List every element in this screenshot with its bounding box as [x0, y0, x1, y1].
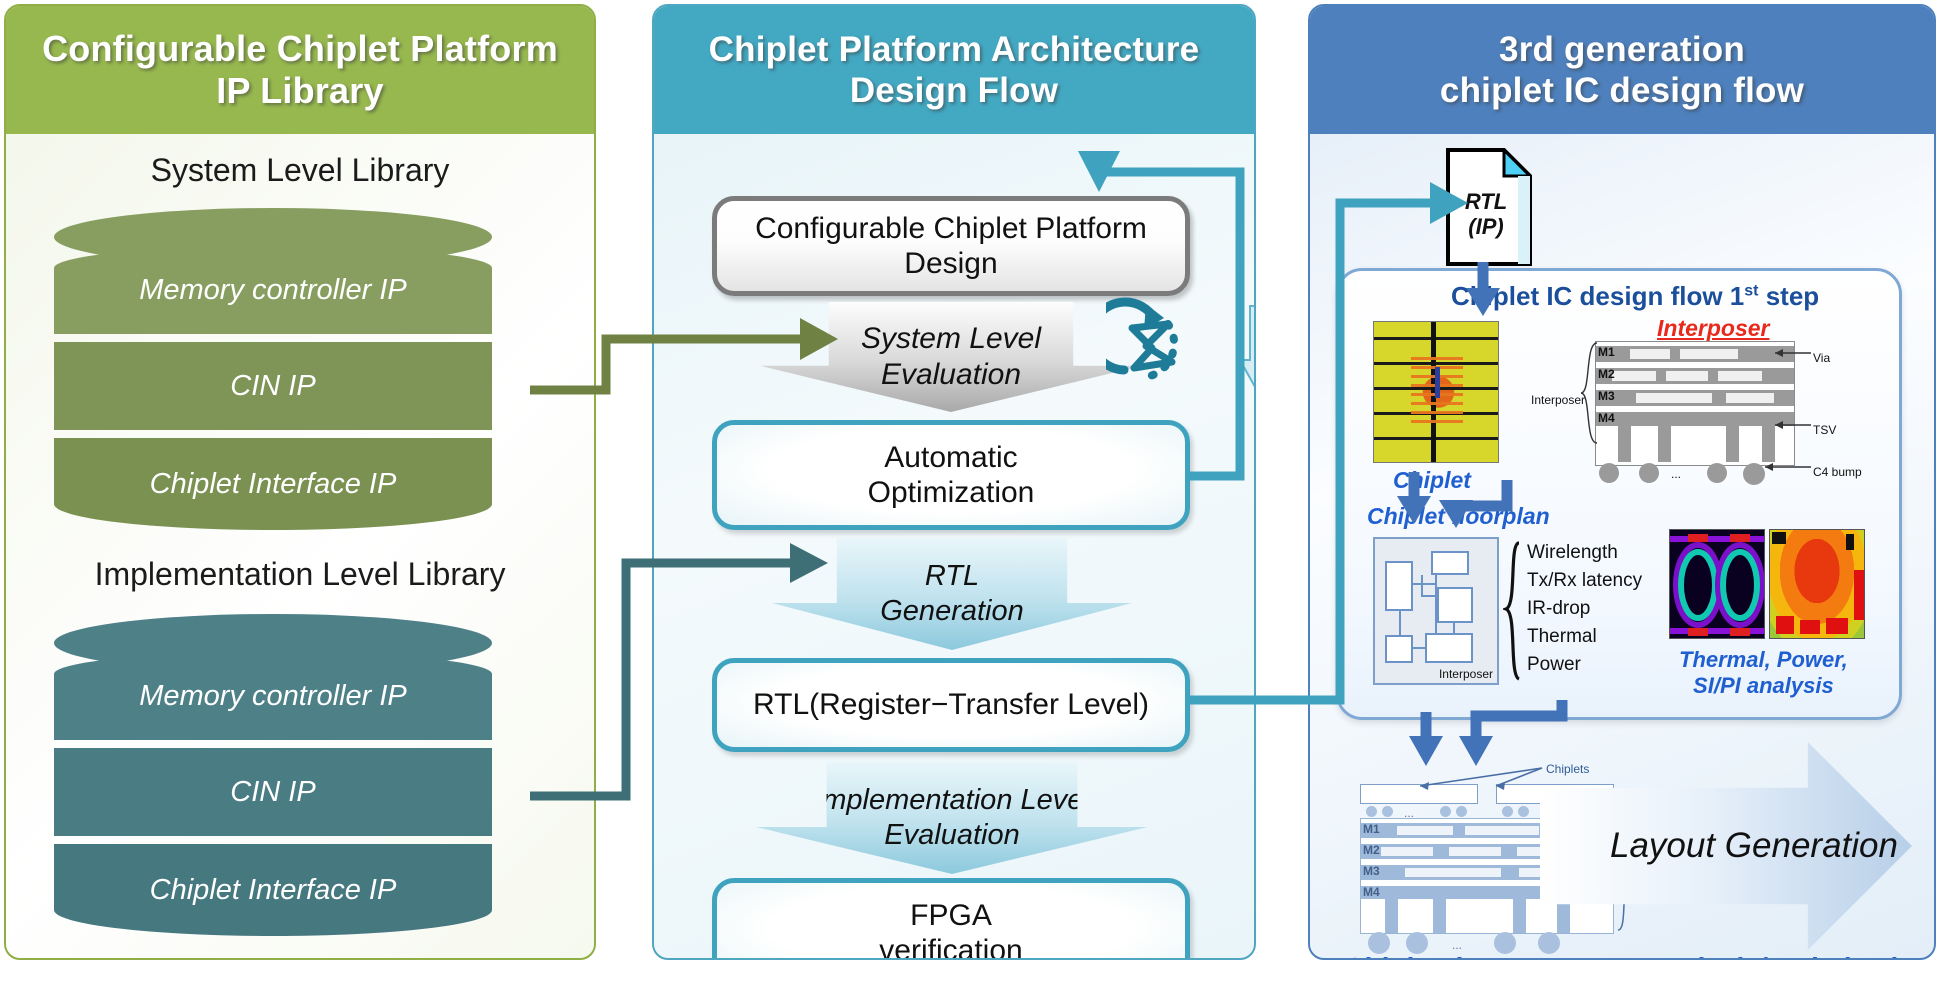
system-level-library-title: System Level Library [6, 152, 594, 189]
metric-item: IR-drop [1527, 595, 1642, 623]
step-label-line2: Generation [880, 594, 1024, 629]
step-label-line2: Optimization [868, 475, 1035, 510]
step-rtl-generation: RTL Generation [772, 538, 1132, 650]
cylinder-band-chiplet-interface-ip: Chiplet Interface IP [54, 438, 492, 530]
panel-chiplet-ic-design-flow: 3rd generation chiplet IC design flow RT… [1308, 4, 1936, 960]
step-automatic-optimization[interactable]: Automatic Optimization [712, 420, 1190, 530]
panel-right-title-line2: chiplet IC design flow [1440, 70, 1804, 111]
panel-mid-title-line2: Design Flow [850, 70, 1058, 111]
analysis-caption: Thermal, Power, SI/PI analysis [1679, 647, 1848, 700]
step-configurable-chiplet-platform-design[interactable]: Configurable Chiplet Platform Design [712, 196, 1190, 296]
down-arrow-icon [1238, 304, 1256, 400]
cylinder-band-cin-ip: CIN IP [54, 748, 492, 836]
chiplet-caption: Chiplet [1393, 467, 1471, 494]
metric-item: Tx/Rx latency [1527, 567, 1642, 595]
step-label-line1: RTL [880, 559, 1024, 594]
rtl-ip-document-icon: RTL (IP) [1446, 148, 1532, 266]
cylinder-band-memory-ip: Memory controller IP [54, 246, 492, 334]
step1-title-post: step [1758, 281, 1819, 311]
step-label-line1: FPGA [879, 898, 1022, 933]
step-system-level-evaluation: System Level Evaluation [760, 302, 1142, 412]
panel-right-title-line1: 3rd generation [1499, 29, 1745, 70]
metric-item: Wirelength [1527, 539, 1642, 567]
step-label-line2: Evaluation [814, 818, 1090, 853]
band-label: Chiplet Interface IP [150, 468, 397, 501]
rtl-doc-line1: RTL [1446, 190, 1526, 215]
band-label: Memory controller IP [139, 680, 407, 713]
step1-title-pre: Chiplet IC design flow 1 [1451, 281, 1744, 311]
floorplan-interposer-label: Interposer [1439, 667, 1493, 681]
implementation-level-library-cylinder: Memory controller IP CIN IP Chiplet Inte… [54, 614, 492, 906]
chiplets-label: Chiplets [1546, 762, 1589, 776]
chiplet-ic-design-flow-step1-card: Chiplet IC design flow 1st step Chiplet … [1336, 268, 1902, 720]
panel-left-header: Configurable Chiplet Platform IP Library [6, 6, 594, 134]
panel-right-body: RTL (IP) Chiplet IC design flow 1st step… [1310, 134, 1934, 958]
step-label-line1: Implementation Level [814, 783, 1090, 818]
panel-mid-header: Chiplet Platform Architecture Design Flo… [654, 6, 1254, 134]
step-label-line1: System Level [861, 321, 1041, 357]
panel-mid-title-line1: Chiplet Platform Architecture [709, 29, 1200, 70]
panel-left-body: System Level Library Memory controller I… [6, 134, 594, 958]
step-implementation-level-evaluation: Implementation Level Evaluation [756, 762, 1148, 874]
panel-ip-library: Configurable Chiplet Platform IP Library… [4, 4, 596, 960]
panel-left-title-line2: IP Library [216, 70, 383, 112]
step-fpga-verification[interactable]: FPGA verification [712, 878, 1190, 960]
cylinder-band-memory-ip: Memory controller IP [54, 652, 492, 740]
panel-design-flow: Chiplet Platform Architecture Design Flo… [652, 4, 1256, 960]
system-level-library-cylinder: Memory controller IP CIN IP Chiplet Inte… [54, 208, 492, 500]
layout-generation-label: Layout Generation [1610, 826, 1898, 866]
chiplet-floorplan-caption: Chiplet floorplan [1367, 503, 1550, 530]
metrics-brace [1503, 539, 1525, 683]
cylinder-band-cin-ip: CIN IP [54, 342, 492, 430]
step-label-line1: RTL(Register−Transfer Level) [753, 687, 1149, 722]
step1-title: Chiplet IC design flow 1st step [1451, 281, 1819, 312]
step-label-line1: Automatic [868, 440, 1035, 475]
metrics-list: Wirelength Tx/Rx latency IR-drop Thermal… [1527, 539, 1642, 680]
eye-diagram-image [1669, 529, 1765, 639]
panel-left-title-line1: Configurable Chiplet Platform [42, 28, 558, 70]
analysis-caption-line1: Thermal, Power, [1679, 647, 1848, 673]
metric-item: Power [1527, 651, 1642, 679]
diagram-canvas: Configurable Chiplet Platform IP Library… [0, 0, 1942, 1002]
rtl-doc-line2: (IP) [1446, 215, 1526, 240]
step-label-line2: Evaluation [861, 357, 1041, 393]
iteration-hourglass-icon [1106, 296, 1246, 412]
step1-title-sup: st [1744, 282, 1758, 299]
band-label: Chiplet Interface IP [150, 874, 397, 907]
analysis-caption-line2: SI/PI analysis [1679, 673, 1848, 699]
implementation-level-library-title: Implementation Level Library [6, 556, 594, 593]
cylinder-band-chiplet-interface-ip: Chiplet Interface IP [54, 844, 492, 936]
band-label: CIN IP [230, 370, 315, 403]
step-label-line1: Configurable Chiplet Platform [755, 211, 1147, 246]
step-label-line2: verification [879, 933, 1022, 960]
chiplet-die-image [1373, 321, 1499, 463]
xsection-leader-lines [1575, 331, 1825, 491]
co-analysis-caption: Chiplet−interposer co−analysis/optimizat… [1342, 952, 1930, 960]
step-rtl-register-transfer-level[interactable]: RTL(Register−Transfer Level) [712, 658, 1190, 752]
band-label: CIN IP [230, 776, 315, 809]
chiplet-floorplan-diagram: Interposer [1373, 537, 1499, 685]
thermal-map-image [1769, 529, 1865, 639]
band-label: Memory controller IP [139, 274, 407, 307]
metric-item: Thermal [1527, 623, 1642, 651]
panel-mid-body: Configurable Chiplet Platform Design Sys… [654, 134, 1254, 958]
step-label-line2: Design [755, 246, 1147, 281]
panel-right-header: 3rd generation chiplet IC design flow [1310, 6, 1934, 134]
